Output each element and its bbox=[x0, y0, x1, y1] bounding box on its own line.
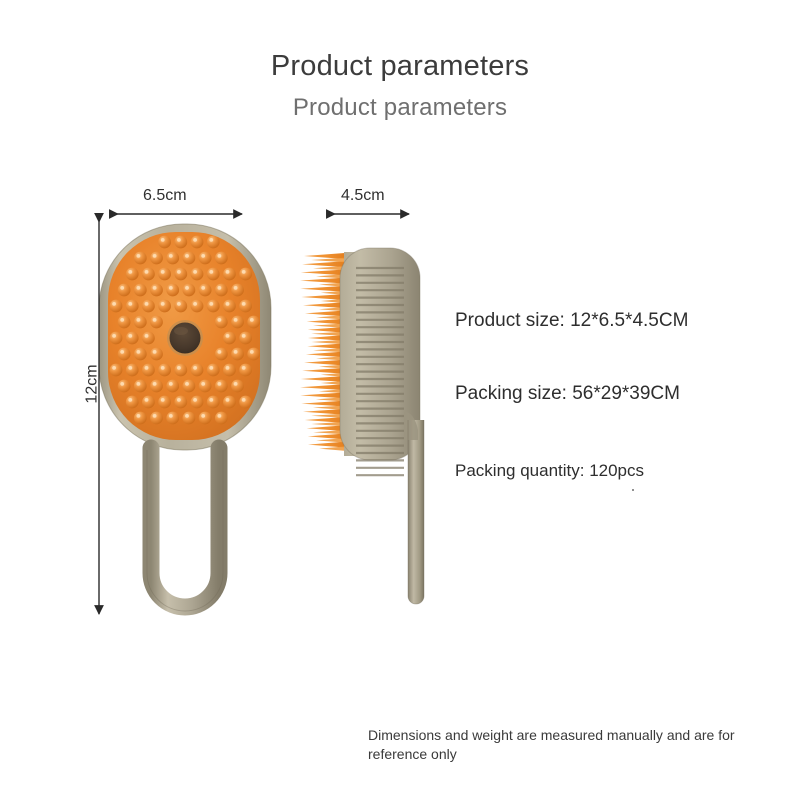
spec-product-size: Product size: 12*6.5*4.5CM bbox=[455, 310, 688, 332]
side-handle bbox=[408, 420, 424, 604]
footer-disclaimer: Dimensions and weight are measured manua… bbox=[368, 726, 768, 764]
product-illustration bbox=[0, 0, 800, 800]
side-view-group bbox=[300, 248, 424, 604]
front-handle-loop bbox=[151, 448, 219, 607]
center-spray-hole bbox=[167, 320, 203, 356]
product-parameters-page: Product parameters Product parameters bbox=[0, 0, 800, 800]
spec-packing-size: Packing size: 56*29*39CM bbox=[455, 383, 680, 405]
height-label: 12cm bbox=[84, 364, 102, 403]
stray-dot-artifact bbox=[632, 489, 634, 491]
front-width-label: 6.5cm bbox=[143, 187, 187, 205]
front-view-group bbox=[99, 224, 271, 611]
side-width-label: 4.5cm bbox=[341, 187, 385, 205]
spec-packing-quantity: Packing quantity: 120pcs bbox=[455, 461, 644, 481]
